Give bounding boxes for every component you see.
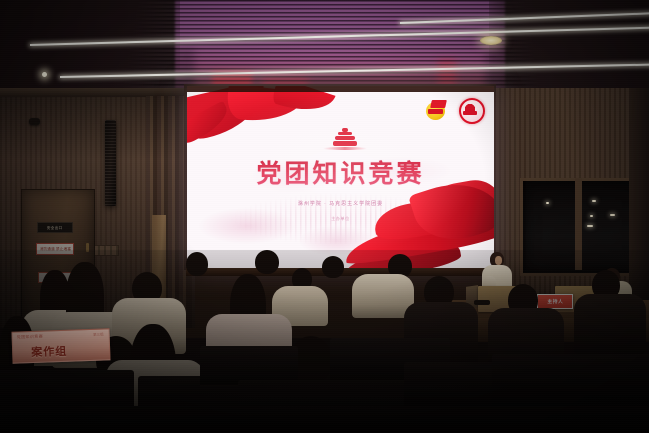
ceiling-shadow-left <box>0 0 180 92</box>
cyl-emblem-icon <box>426 100 447 121</box>
party-emblem-icon <box>459 98 485 124</box>
seat-banner: 党团知识竞赛 第三组 案作组 <box>11 328 110 363</box>
ceiling-downlight <box>480 36 502 45</box>
seat-banner-top-label: 党团知识竞赛 <box>17 334 44 341</box>
cyl-emblem-banner <box>428 109 443 114</box>
pagoda-tier-3 <box>335 136 355 140</box>
party-emblem-bar <box>463 111 477 115</box>
screen-top-shadow <box>187 86 494 92</box>
window-reflection-4 <box>610 214 615 216</box>
window-reflection-5 <box>587 225 593 227</box>
window-reflection-2 <box>592 200 596 202</box>
pagoda-base-glow <box>323 147 367 150</box>
auditorium-photo: 安全出口 消防通道 禁止堵塞 禁止吸烟 <box>0 0 649 433</box>
seat-banner-group-label: 第三组 <box>93 333 104 338</box>
window-reflection-3 <box>590 215 593 217</box>
window-reflection-1 <box>546 202 549 204</box>
seat-banner-main-label: 案作组 <box>31 343 68 360</box>
projection-screen[interactable]: 党团知识竞赛 滁州学院 · 马克思主义学院团委 主办单位 2023年12月20日 <box>187 86 494 268</box>
pagoda-icon <box>331 128 359 150</box>
pagoda-tier-2 <box>338 132 352 135</box>
cyl-emblem-flag <box>430 100 447 108</box>
pagoda-tier-4 <box>333 141 357 146</box>
ceiling <box>0 0 649 92</box>
ceiling-spot-light <box>42 72 47 77</box>
